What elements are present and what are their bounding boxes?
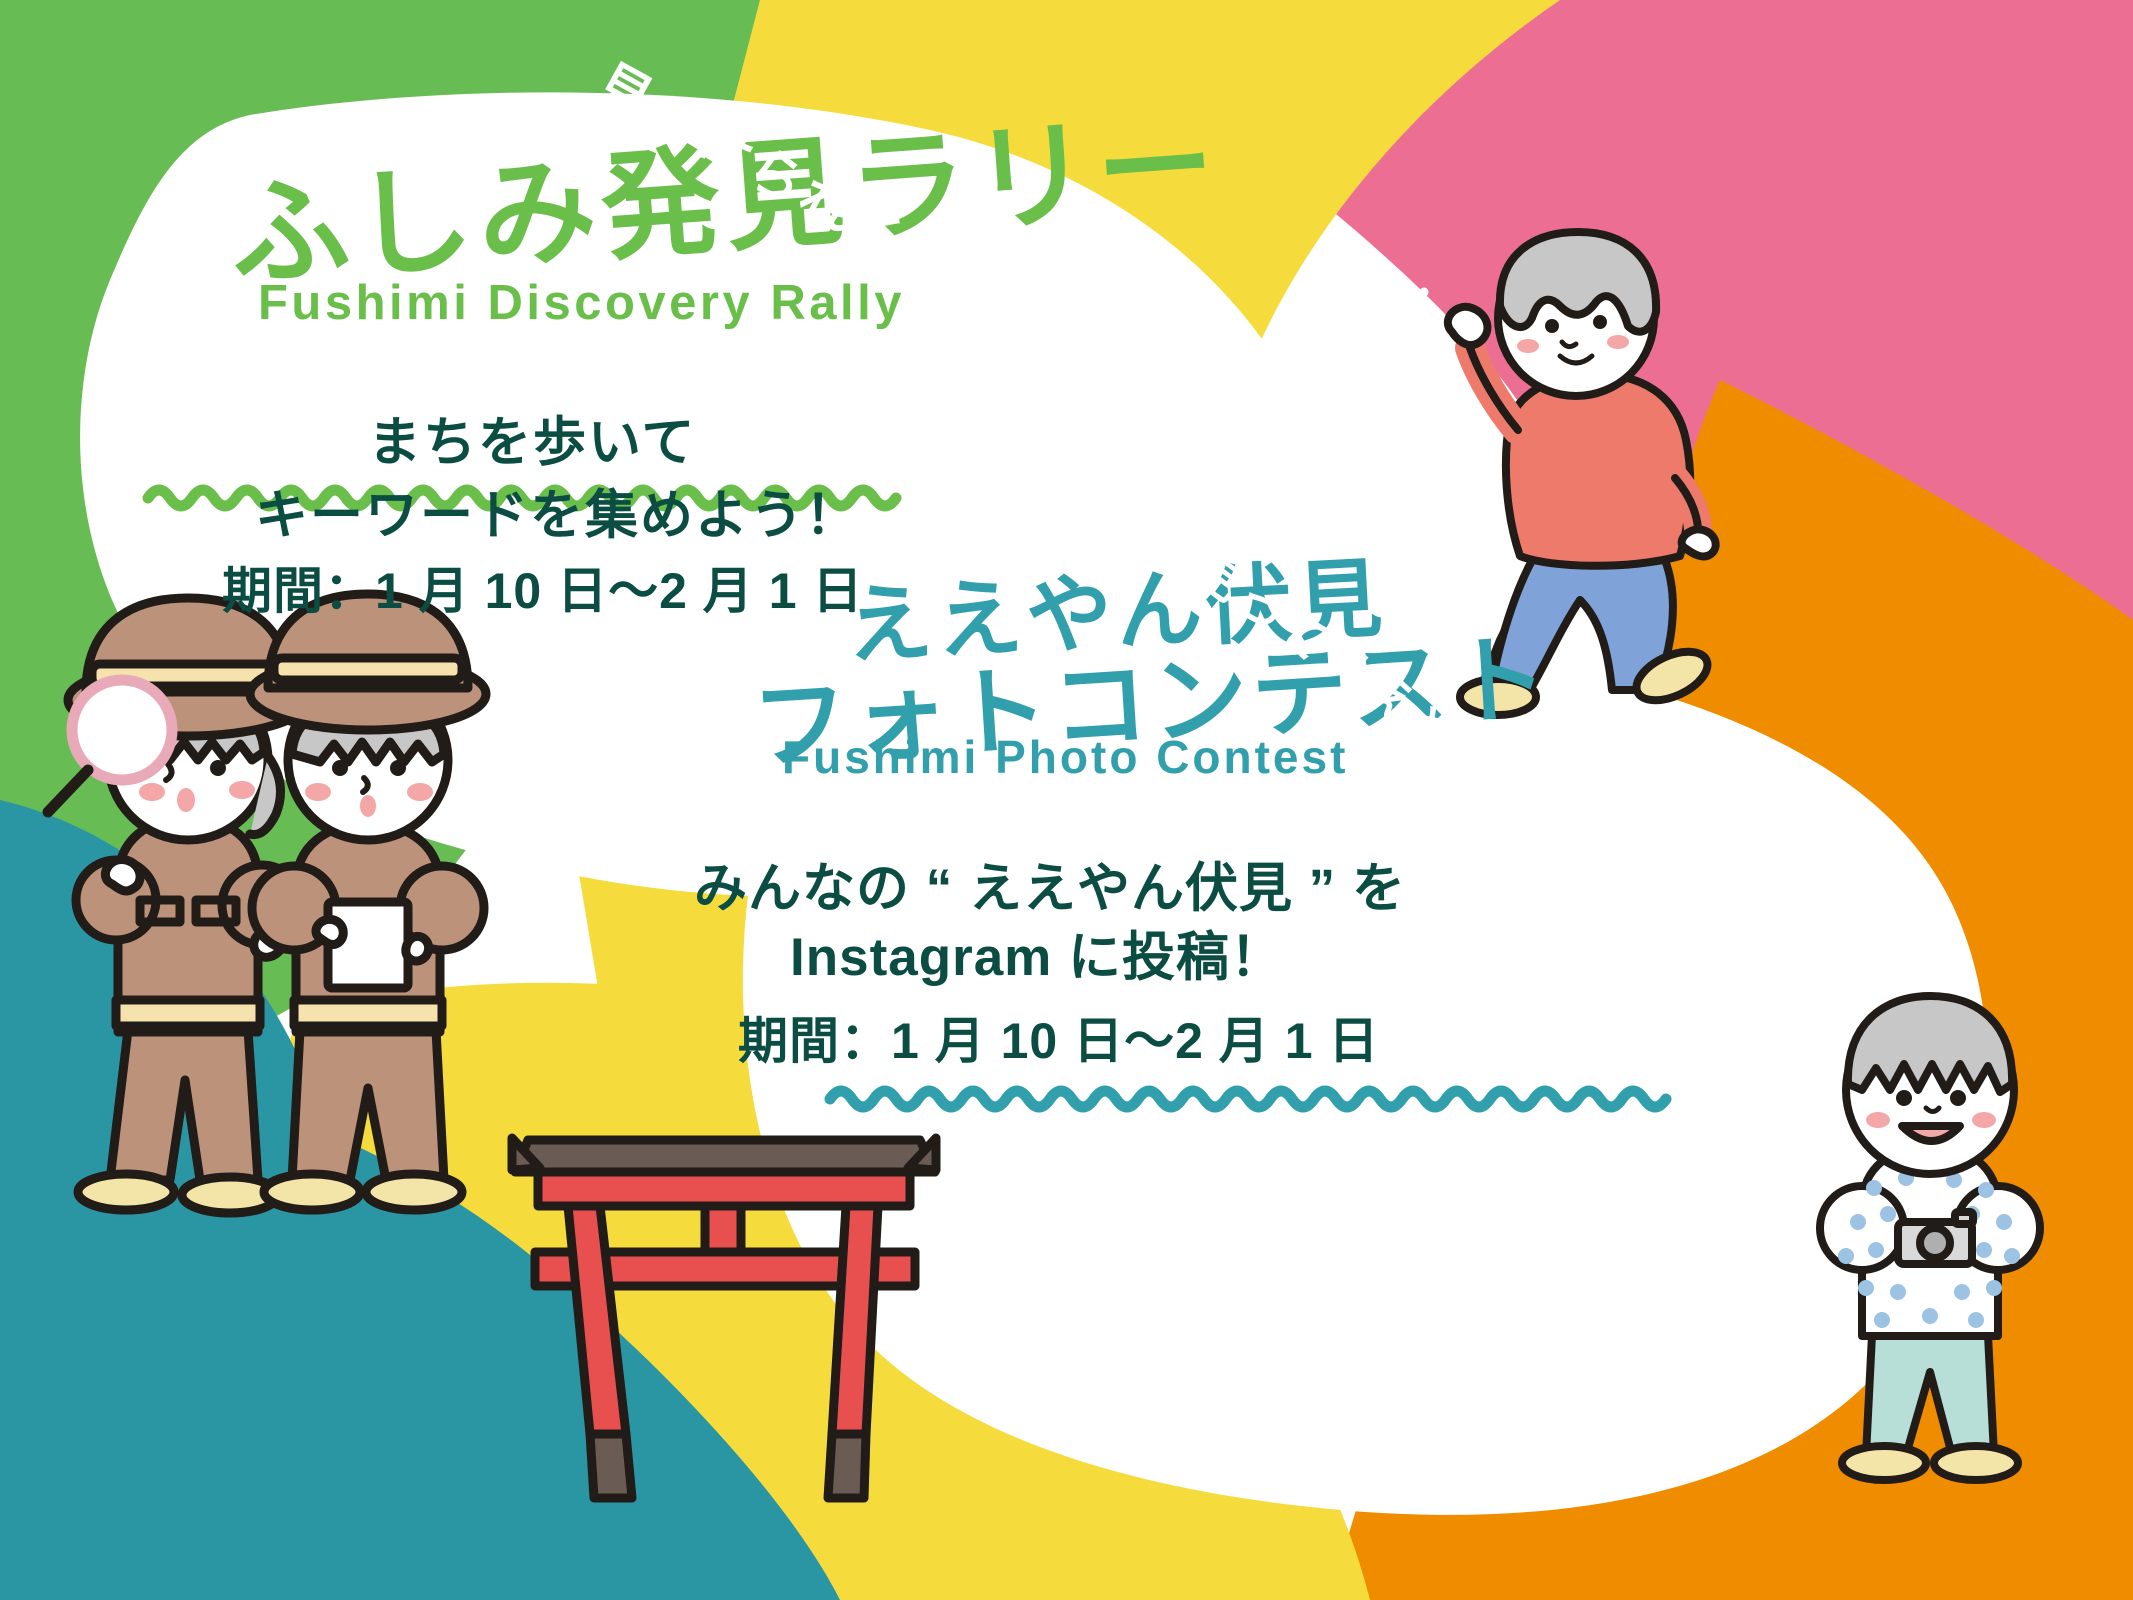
photo-subtitle: Fushimi Photo Contest (782, 730, 1348, 784)
photo-message-line2: Instagram に投稿！ (790, 915, 1284, 991)
rally-period: 期間：1 月 10 日〜2 月 1 日 (222, 551, 863, 623)
photo-period: 期間：1 月 10 日〜2 月 1 日 (738, 1001, 1379, 1073)
poster-canvas: ふしみ発見ラリー Fushimi Discovery Rally まちを歩いて … (0, 0, 2133, 1600)
rally-message-line2: キーワードを集めよう！ (255, 473, 860, 549)
rally-subtitle: Fushimi Discovery Rally (258, 275, 905, 331)
photo-message-line1: みんなの “ ええやん伏見 ” を (694, 846, 1406, 922)
rally-message-line1: まちを歩いて (368, 400, 696, 476)
